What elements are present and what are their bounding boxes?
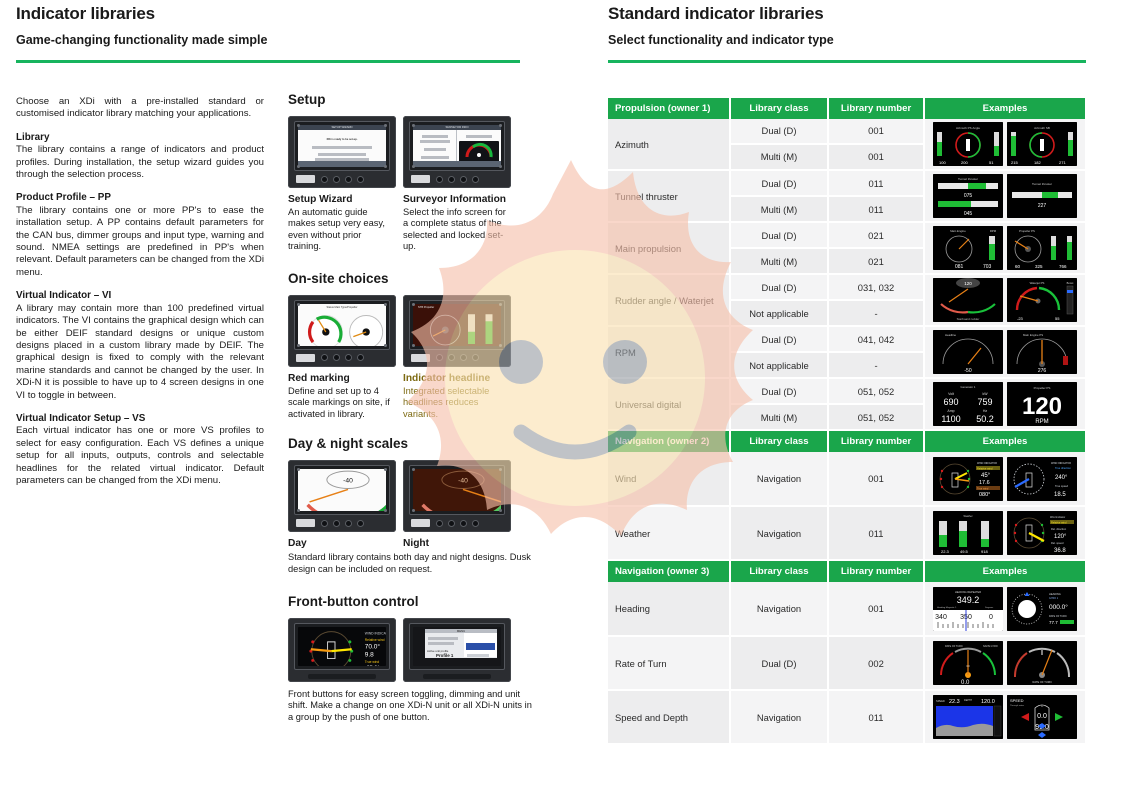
- row-label-main-propulsion: Main propulsion: [608, 222, 730, 274]
- section-body-vs: Each virtual indicator has one or more V…: [16, 425, 264, 487]
- svg-text:240°: 240°: [1055, 475, 1068, 481]
- table-row: Azimuth Dual (D) 001 Azimuth PS Angle: [608, 119, 1086, 144]
- left-header-rule: [16, 60, 520, 63]
- col-header-library-class-2: Library class: [730, 430, 828, 452]
- svg-text:49.5: 49.5: [960, 549, 969, 554]
- svg-text:Wind indicator: Wind indicator: [1050, 516, 1065, 519]
- right-header-rule: [608, 60, 1086, 63]
- caption-setup-wizard: Setup Wizard An automatic guide makes se…: [288, 194, 396, 253]
- svg-text:22.3: 22.3: [949, 699, 960, 705]
- intro-paragraph: Choose an XDi with a pre-installed stand…: [16, 96, 264, 121]
- svg-text:045: 045: [964, 211, 973, 217]
- cell-number: 011: [828, 690, 924, 744]
- svg-text:HEADING REPEATER: HEADING REPEATER: [955, 590, 981, 594]
- svg-text:50.2: 50.2: [976, 414, 994, 424]
- cell-class: Dual (D): [730, 326, 828, 352]
- screen-value-rudder-day: -40: [343, 478, 353, 485]
- svg-text:Main Engine PS: Main Engine PS: [1023, 333, 1043, 337]
- svg-text:Relative wind: Relative wind: [365, 637, 385, 641]
- cell-class: Dual (D): [730, 170, 828, 196]
- row-label-universal-digital: Universal digital: [608, 378, 730, 430]
- device-photo-profile-menu: MENU Active unit profile Profile 1: [403, 618, 511, 682]
- svg-text:DEPTH: DEPTH: [964, 699, 972, 702]
- feature-title-onsite: On-site choices: [288, 271, 533, 286]
- cell-number: 011: [828, 196, 924, 222]
- example-image-heading-a: HEADING REPEATER 349.2 Heading Magnetic …: [933, 587, 1003, 631]
- svg-text:60: 60: [1015, 264, 1021, 269]
- section-heading-pp: Product Profile – PP: [16, 192, 264, 204]
- svg-text:766: 766: [1059, 264, 1067, 269]
- cell-number: 041, 042: [828, 326, 924, 352]
- device-photo-indicator-headline: STB Propeller 145.1 400 2850: [403, 295, 511, 367]
- svg-text:080°: 080°: [979, 492, 990, 498]
- poster-page: Indicator libraries Game-changing functi…: [0, 0, 1124, 789]
- device-photo-red-marking: Status Main Type/Propeller: [288, 295, 396, 367]
- svg-text:120.0: 120.0: [981, 699, 995, 705]
- example-image-rudder-waterjet: Waterjet PS Boost -23 55: [1007, 278, 1077, 322]
- example-image-heading-b: HEADING GYRO 1 000.0° RATE OF TURN 77.7: [1007, 587, 1077, 631]
- cell-class: Dual (D): [730, 378, 828, 404]
- cell-examples-azimuth: Azimuth PS Angle 100 200 51: [924, 119, 1086, 170]
- caption-text-setup-wizard: An automatic guide makes setup very easy…: [288, 207, 385, 252]
- col-header-library-number: Library number: [828, 98, 924, 119]
- svg-text:276: 276: [1038, 368, 1047, 374]
- svg-text:GYRO 1: GYRO 1: [1049, 597, 1059, 600]
- screen-title-setup-wizard: SETUP WIZARD: [298, 125, 386, 130]
- svg-text:Volt: Volt: [948, 392, 954, 396]
- feature-column: Setup SETUP WIZARD XDi is ready to be se…: [288, 92, 533, 738]
- feature-front-button: Front-button control WIND INDICATOR Rela…: [288, 594, 533, 724]
- svg-text:Degrees: Degrees: [985, 606, 994, 609]
- cell-examples-rate-of-turn: RATE OF TURN NAVIS GYRO 0.0 0.0: [924, 636, 1086, 690]
- cell-class: Dual (D): [730, 222, 828, 248]
- col-header-library-number-2: Library number: [828, 430, 924, 452]
- standard-libraries-table: Propulsion (owner 1) Library class Libra…: [608, 98, 1086, 745]
- note-day-night: Standard library contains both day and n…: [288, 552, 533, 576]
- col-header-examples: Examples: [924, 98, 1086, 119]
- table-row: Heading Navigation 001 HEADING REPEATER …: [608, 582, 1086, 636]
- svg-text:9.8: 9.8: [365, 651, 374, 658]
- right-page-subtitle: Select functionality and indicator type: [608, 33, 1086, 47]
- svg-text:100: 100: [939, 160, 946, 165]
- caption-text-surveyor-info: Select the info screen for a complete st…: [403, 207, 506, 252]
- caption-text-indicator-headline: Integrated selectable headlines reduces …: [403, 386, 489, 419]
- section-body-pp: The library contains one or more PP's to…: [16, 205, 264, 279]
- svg-text:Starboard rudder: Starboard rudder: [957, 317, 980, 321]
- cell-examples-rudder: 120 Starboard rudder Waterjet PS: [924, 274, 1086, 326]
- row-label-azimuth: Azimuth: [608, 119, 730, 170]
- svg-text:RPM: RPM: [1035, 419, 1048, 425]
- svg-text:182: 182: [1034, 160, 1041, 165]
- example-image-wind-a: WIND INDICATOR Relative wind 45° 17.6 Tr…: [933, 457, 1003, 501]
- table-row: Weather Navigation 011 Weather: [608, 506, 1086, 560]
- device-photo-surveyor-info: SURVEYOR INFO: [403, 116, 511, 188]
- cell-number: -: [828, 352, 924, 378]
- svg-text:0: 0: [989, 614, 993, 621]
- table-row: Main propulsion Dual (D) 021 Main Engine…: [608, 222, 1086, 248]
- cell-examples-wind: WIND INDICATOR Relative wind 45° 17.6 Tr…: [924, 452, 1086, 506]
- svg-text:Tunnel thruster: Tunnel thruster: [958, 177, 978, 181]
- device-photo-day-scale: -40 Rudder angle: [288, 460, 396, 532]
- svg-text:True direction: True direction: [1055, 466, 1071, 470]
- svg-text:000.0°: 000.0°: [1049, 603, 1068, 611]
- cell-number: 001: [828, 119, 924, 144]
- example-image-tunnel-multi: Tunnel thruster 227: [1007, 174, 1077, 218]
- table-row: Wind Navigation 001: [608, 452, 1086, 506]
- svg-text:Propeller PS: Propeller PS: [1034, 386, 1051, 390]
- example-image-rudder-dual: 120 Starboard rudder: [933, 278, 1003, 322]
- cell-class: Navigation: [730, 452, 828, 506]
- svg-text:120°: 120°: [1054, 534, 1067, 540]
- cell-number: 001: [828, 452, 924, 506]
- feature-setup: Setup SETUP WIZARD XDi is ready to be se…: [288, 92, 533, 253]
- row-label-weather: Weather: [608, 506, 730, 560]
- svg-text:081: 081: [955, 264, 964, 270]
- cell-class: Dual (D): [730, 274, 828, 300]
- svg-text:-40: -40: [458, 478, 468, 485]
- svg-text:Amp: Amp: [947, 409, 954, 413]
- caption-red-marking: Red marking Define and set up to 4 scale…: [288, 373, 396, 420]
- svg-text:WIND INDICATOR: WIND INDICATOR: [1051, 462, 1071, 465]
- cell-class: Multi (M): [730, 248, 828, 274]
- section-heading-vs: Virtual Indicator Setup – VS: [16, 413, 264, 425]
- svg-text:RPM: RPM: [990, 229, 997, 233]
- svg-text:0.0: 0.0: [1037, 713, 1047, 720]
- svg-text:Azimuth PS Angle: Azimuth PS Angle: [956, 126, 980, 130]
- left-column-header: Indicator libraries Game-changing functi…: [16, 4, 520, 63]
- svg-text:120: 120: [1022, 393, 1062, 420]
- libraries-table: Propulsion (owner 1) Library class Libra…: [608, 98, 1087, 745]
- section-heading-library: Library: [16, 132, 264, 144]
- svg-text:45°: 45°: [981, 473, 991, 479]
- svg-text:22.3: 22.3: [941, 549, 950, 554]
- svg-text:690: 690: [943, 397, 958, 407]
- caption-text-red-marking: Define and set up to 4 scale markings on…: [288, 386, 390, 419]
- svg-text:Rel. direction: Rel. direction: [1051, 527, 1067, 531]
- example-image-depth-a: SPEED 22.3 DEPTH 120.0: [933, 695, 1003, 739]
- svg-text:kW: kW: [982, 392, 988, 396]
- cell-class: Multi (M): [730, 196, 828, 222]
- table-header-navigation-2: Navigation (owner 2) Library class Libra…: [608, 430, 1086, 452]
- caption-label-day: Day: [288, 538, 396, 550]
- row-label-rudder-waterjet: Rudder angle / Waterjet: [608, 274, 730, 326]
- cell-class: Navigation: [730, 690, 828, 744]
- screen-body-setup-wizard: XDi is ready to be set-up.: [298, 138, 386, 141]
- example-image-weather-a: Weather 22.3 49.5 918: [933, 511, 1003, 555]
- caption-indicator-headline: Indicator headline Integrated selectable…: [403, 373, 511, 420]
- section-body-vi: A library may contain more than 100 pred…: [16, 303, 264, 402]
- svg-text:215: 215: [1011, 160, 1018, 165]
- cell-number: 001: [828, 582, 924, 636]
- example-image-rpm-dual: Headline -50: [933, 330, 1003, 374]
- row-label-rate-of-turn: Rate of Turn: [608, 636, 730, 690]
- svg-text:18.5: 18.5: [1054, 492, 1066, 498]
- example-image-rot-a: RATE OF TURN NAVIS GYRO 0.0 0.0: [933, 641, 1003, 685]
- caption-label-setup-wizard: Setup Wizard: [288, 194, 396, 206]
- svg-text:075: 075: [964, 193, 973, 199]
- cell-examples-universal-digital: Generator 1 Volt kW 690 759 Amp Hz 1100 …: [924, 378, 1086, 430]
- cell-examples-main-propulsion: Main Engine RPM 081 703: [924, 222, 1086, 274]
- svg-text:1100: 1100: [941, 414, 960, 424]
- svg-text:70.0°: 70.0°: [365, 642, 381, 650]
- screen-title-red-marking: Status Main Type/Propeller: [298, 306, 386, 309]
- svg-text:17.6: 17.6: [979, 480, 990, 486]
- table-row: Tunnel thruster Dual (D) 011 Tunnel thru…: [608, 170, 1086, 196]
- svg-text:Main Engine: Main Engine: [950, 229, 966, 233]
- cell-class: Not applicable: [730, 352, 828, 378]
- device-photo-wind-indicator: WIND INDICATOR Relative wind 70.0° 9.8 T…: [288, 618, 396, 682]
- col-header-library-number-3: Library number: [828, 560, 924, 582]
- cell-number: 021: [828, 248, 924, 274]
- example-image-digital-b: Propeller PS 120 RPM: [1007, 382, 1077, 426]
- col-header-examples-2: Examples: [924, 430, 1086, 452]
- col-header-examples-3: Examples: [924, 560, 1086, 582]
- cell-number: 011: [828, 170, 924, 196]
- example-image-rpm-b: Main Engine PS 276: [1007, 330, 1077, 374]
- col-header-group-1: Propulsion (owner 1): [608, 98, 730, 119]
- col-header-group-3: Navigation (owner 3): [608, 560, 730, 582]
- col-header-library-class-3: Library class: [730, 560, 828, 582]
- cell-number: 031, 032: [828, 274, 924, 300]
- svg-text:325: 325: [1035, 264, 1043, 269]
- svg-text:RATE OF TURN: RATE OF TURN: [1049, 615, 1067, 618]
- feature-onsite: On-site choices Status Main Type/Propell…: [288, 271, 533, 420]
- row-label-wind: Wind: [608, 452, 730, 506]
- svg-text:Headline: Headline: [945, 333, 956, 337]
- feature-title-front-button: Front-button control: [288, 594, 533, 609]
- intro-text-column: Choose an XDi with a pre-installed stand…: [16, 96, 264, 498]
- svg-text:77.7: 77.7: [1049, 620, 1058, 625]
- svg-text:349.2: 349.2: [957, 595, 980, 605]
- caption-surveyor-info: Surveyor Information Select the info scr…: [403, 194, 511, 253]
- example-image-digital-a: Generator 1 Volt kW 690 759 Amp Hz 1100 …: [933, 382, 1003, 426]
- cell-number: -: [828, 300, 924, 326]
- example-image-azimuth-multi: Azimuth SB 215 182 271: [1007, 122, 1077, 166]
- cell-class: Multi (M): [730, 404, 828, 430]
- svg-text:SPEED: SPEED: [936, 699, 945, 703]
- svg-text:Heading Magnetic 1: Heading Magnetic 1: [937, 606, 957, 609]
- table-row: Rudder angle / Waterjet Dual (D) 031, 03…: [608, 274, 1086, 300]
- row-label-rpm: RPM: [608, 326, 730, 378]
- svg-text:759: 759: [977, 397, 992, 407]
- svg-text:227: 227: [1038, 203, 1047, 209]
- cell-number: 051, 052: [828, 378, 924, 404]
- cell-class: Navigation: [730, 582, 828, 636]
- table-row: Universal digital Dual (D) 051, 052 Gene…: [608, 378, 1086, 404]
- row-label-tunnel-thruster: Tunnel thruster: [608, 170, 730, 222]
- svg-text:55: 55: [1055, 316, 1060, 321]
- svg-text:-50: -50: [964, 368, 971, 374]
- device-photo-setup-wizard: SETUP WIZARD XDi is ready to be set-up.: [288, 116, 396, 188]
- svg-text:340: 340: [935, 614, 947, 621]
- svg-text:RATE OF TURN: RATE OF TURN: [945, 645, 963, 648]
- cell-examples-rpm: Headline -50 Main Engine PS: [924, 326, 1086, 378]
- right-page-title: Standard indicator libraries: [608, 4, 1086, 24]
- example-image-weather-b: Wind indicator Relative wind Rel. direct…: [1007, 511, 1077, 555]
- caption-night: Night: [403, 538, 511, 551]
- svg-text:True speed: True speed: [1055, 484, 1069, 488]
- cell-number: 001: [828, 144, 924, 170]
- note-front-button: Front buttons for easy screen toggling, …: [288, 689, 533, 724]
- row-label-speed-depth: Speed and Depth: [608, 690, 730, 744]
- screen-value-profile-name: Profile 1: [427, 653, 462, 658]
- example-image-wind-b: WIND INDICATOR True direction 240° True …: [1007, 457, 1077, 501]
- svg-text:NAVIS GYRO: NAVIS GYRO: [983, 645, 998, 648]
- caption-label-surveyor-info: Surveyor Information: [403, 194, 511, 206]
- svg-text:Relative wind: Relative wind: [977, 466, 993, 470]
- row-label-heading: Heading: [608, 582, 730, 636]
- cell-class: Multi (M): [730, 144, 828, 170]
- table-header-propulsion: Propulsion (owner 1) Library class Libra…: [608, 98, 1086, 119]
- svg-text:51: 51: [989, 160, 994, 165]
- right-column-header: Standard indicator libraries Select func…: [608, 4, 1086, 63]
- cell-number: 011: [828, 506, 924, 560]
- col-header-library-class: Library class: [730, 98, 828, 119]
- svg-text:Generator 1: Generator 1: [961, 385, 976, 389]
- svg-text:918: 918: [981, 549, 988, 554]
- cell-class: Dual (D): [730, 636, 828, 690]
- svg-text:Weather: Weather: [964, 515, 973, 518]
- svg-text:True wind: True wind: [977, 486, 989, 490]
- svg-text:Tunnel thruster: Tunnel thruster: [1032, 182, 1052, 186]
- svg-text:120: 120: [964, 281, 972, 286]
- example-image-main-dual: Main Engine RPM 081 703: [933, 226, 1003, 270]
- svg-text:Hz: Hz: [983, 409, 988, 413]
- svg-text:0.0: 0.0: [961, 680, 970, 685]
- table-header-navigation-3: Navigation (owner 3) Library class Libra…: [608, 560, 1086, 582]
- example-image-speed-b: SPEED Through water kn 0.0 99.0: [1007, 695, 1077, 739]
- example-image-main-multi: Propeller PS 60 325 766: [1007, 226, 1077, 270]
- col-header-group-2: Navigation (owner 2): [608, 430, 730, 452]
- feature-day-night: Day & night scales -40 Rudder angle: [288, 436, 533, 575]
- table-row: RPM Dual (D) 041, 042 Headline -50: [608, 326, 1086, 352]
- svg-text:WIND INDICATOR: WIND INDICATOR: [977, 462, 997, 465]
- caption-label-night: Night: [403, 538, 511, 550]
- cell-examples-tunnel: Tunnel thruster 075 045 Tunnel thruster: [924, 170, 1086, 222]
- left-page-subtitle: Game-changing functionality made simple: [16, 33, 520, 47]
- svg-text:Rel. speed: Rel. speed: [1051, 541, 1064, 545]
- caption-day: Day: [288, 538, 396, 551]
- example-image-azimuth-dual: Azimuth PS Angle 100 200 51: [933, 122, 1003, 166]
- caption-label-indicator-headline: Indicator headline: [403, 373, 511, 385]
- example-image-tunnel-dual: Tunnel thruster 075 045: [933, 174, 1003, 218]
- svg-text:200: 200: [961, 160, 968, 165]
- svg-text:36.8: 36.8: [1054, 548, 1066, 554]
- svg-text:-23: -23: [1017, 316, 1024, 321]
- left-page-title: Indicator libraries: [16, 4, 520, 24]
- section-heading-vi: Virtual Indicator – VI: [16, 290, 264, 302]
- svg-text:703: 703: [983, 264, 992, 270]
- svg-text:True wind: True wind: [365, 660, 380, 664]
- svg-text:Azimuth SB: Azimuth SB: [1034, 126, 1050, 130]
- device-photo-night-scale: -40 Rudder angle: [403, 460, 511, 532]
- cell-examples-heading: HEADING REPEATER 349.2 Heading Magnetic …: [924, 582, 1086, 636]
- svg-text:271: 271: [1059, 160, 1066, 165]
- svg-text:HEADING: HEADING: [1049, 592, 1061, 596]
- feature-title-day-night: Day & night scales: [288, 436, 533, 451]
- cell-examples-weather: Weather 22.3 49.5 918: [924, 506, 1086, 560]
- cell-number: 002: [828, 636, 924, 690]
- cell-class: Not applicable: [730, 300, 828, 326]
- table-row: Speed and Depth Navigation 011 SPEED 22.…: [608, 690, 1086, 744]
- feature-title-setup: Setup: [288, 92, 533, 107]
- svg-text:Through water: Through water: [1010, 704, 1024, 707]
- cell-class: Dual (D): [730, 119, 828, 144]
- caption-label-red-marking: Red marking: [288, 373, 396, 385]
- svg-text:SPEED: SPEED: [1010, 698, 1024, 703]
- svg-text:Propeller PS: Propeller PS: [1019, 229, 1035, 233]
- cell-examples-speed-depth: SPEED 22.3 DEPTH 120.0: [924, 690, 1086, 744]
- svg-text:Waterjet PS: Waterjet PS: [1030, 281, 1045, 285]
- svg-text:WIND INDICATOR: WIND INDICATOR: [365, 631, 386, 635]
- section-body-library: The library contains a range of indicato…: [16, 144, 264, 181]
- cell-number: 051, 052: [828, 404, 924, 430]
- svg-text:Boost: Boost: [1067, 281, 1074, 285]
- svg-text:Relative wind: Relative wind: [1051, 520, 1067, 524]
- table-row: Rate of Turn Dual (D) 002 RATE OF TURN N…: [608, 636, 1086, 690]
- svg-text:RATE OF TURN: RATE OF TURN: [1033, 680, 1052, 684]
- cell-number: 021: [828, 222, 924, 248]
- cell-class: Navigation: [730, 506, 828, 560]
- example-image-rot-b: RATE OF TURN: [1007, 641, 1077, 685]
